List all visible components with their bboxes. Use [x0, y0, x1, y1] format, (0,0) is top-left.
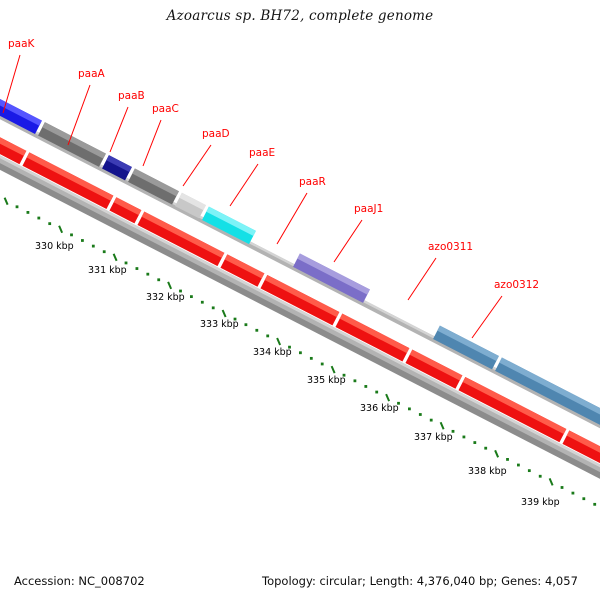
gene-label-paaC[interactable]: paaC [152, 103, 179, 115]
gene-box-azo0311[interactable] [433, 326, 499, 370]
gene-label-azo0312[interactable]: azo0312 [494, 279, 539, 291]
leader-line-paaK [3, 55, 20, 113]
gene-label-group: 330 kbp331 kbp332 kbp333 kbp334 kbp335 k… [8, 38, 560, 508]
gene-box-paaA[interactable] [38, 122, 106, 167]
genome-map-canvas: 330 kbp331 kbp332 kbp333 kbp334 kbp335 k… [0, 0, 600, 600]
gene-label-azo0311[interactable]: azo0311 [428, 241, 473, 253]
leader-line-paaC [143, 120, 161, 166]
accession-text: Accession: NC_008702 [14, 574, 145, 588]
leader-line-paaE [230, 164, 258, 206]
genome-stats-text: Topology: circular; Length: 4,376,040 bp… [262, 574, 578, 588]
leader-line-paaD [183, 145, 211, 186]
gene-label-paaB[interactable]: paaB [118, 90, 145, 102]
ruler-tick-label: 333 kbp [200, 319, 239, 330]
gene-label-paaK[interactable]: paaK [8, 38, 36, 50]
genome-map-figure: Azoarcus sp. BH72, complete genome 330 k… [0, 0, 600, 600]
ruler-tick-label: 336 kbp [360, 403, 399, 414]
forward-strand-track [0, 98, 600, 428]
leader-line-paaR [277, 193, 307, 244]
leader-line-azo0311 [408, 258, 436, 300]
ruler-tick-label: 331 kbp [88, 265, 127, 276]
ruler-tick-label: 335 kbp [307, 375, 346, 386]
gene-label-paaJ1[interactable]: paaJ1 [354, 203, 383, 215]
leader-line-paaA [68, 85, 90, 145]
gene-label-paaR[interactable]: paaR [299, 176, 326, 188]
leader-line-paaJ1 [334, 220, 362, 262]
ruler-tick-label: 339 kbp [521, 497, 560, 508]
gene-label-paaE[interactable]: paaE [249, 147, 275, 159]
ruler-tick-label: 338 kbp [468, 466, 507, 477]
gene-label-paaA[interactable]: paaA [78, 68, 106, 80]
leader-line-azo0312 [472, 296, 502, 338]
gene-label-paaD[interactable]: paaD [202, 128, 230, 140]
leader-line-paaB [110, 107, 128, 152]
ruler-tick-label: 332 kbp [146, 292, 185, 303]
ruler-tick-label: 334 kbp [253, 347, 292, 358]
ruler-tick-label: 330 kbp [35, 241, 74, 252]
coordinate-ruler [0, 170, 600, 514]
ruler-tick-label: 337 kbp [414, 432, 453, 443]
